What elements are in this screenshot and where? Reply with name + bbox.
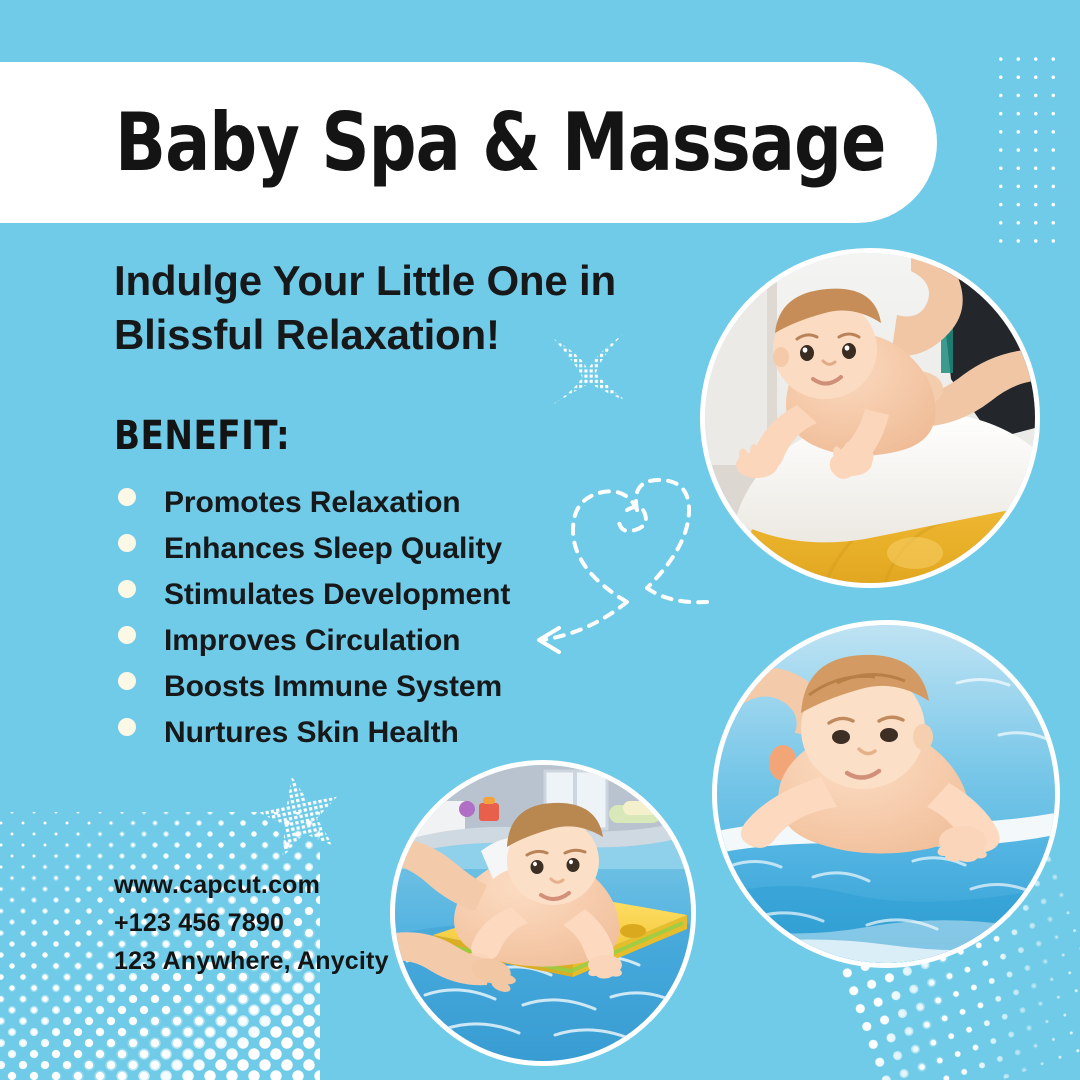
list-item-label: Stimulates Development — [164, 578, 510, 611]
poster-canvas: Baby Spa & Massage Indulge Your Little O… — [0, 0, 1080, 1080]
list-item-label: Boosts Immune System — [164, 670, 502, 703]
list-item: Stimulates Development — [114, 572, 674, 618]
contact-phone[interactable]: +123 456 7890 — [114, 904, 389, 942]
list-item-label: Improves Circulation — [164, 624, 460, 657]
contact-address: 123 Anywhere, Anycity — [114, 942, 389, 980]
bullet-icon — [118, 626, 136, 644]
list-item: Boosts Immune System — [114, 664, 674, 710]
baby-pool-illustration — [717, 625, 1055, 963]
photo-baby-massage-on-ball — [700, 248, 1040, 588]
bullet-icon — [118, 534, 136, 552]
contact-website[interactable]: www.capcut.com — [114, 866, 389, 904]
list-item-label: Enhances Sleep Quality — [164, 532, 502, 565]
baby-kickboard-illustration — [395, 765, 691, 1061]
title-banner: Baby Spa & Massage — [0, 62, 937, 223]
bullet-icon — [118, 580, 136, 598]
bullet-icon — [118, 488, 136, 506]
list-item-label: Nurtures Skin Health — [164, 716, 459, 749]
bullet-icon — [118, 672, 136, 690]
subheading: Indulge Your Little One in Blissful Rela… — [114, 254, 674, 362]
benefit-label: BENEFIT: — [114, 413, 290, 459]
photo-baby-in-pool — [712, 620, 1060, 968]
list-item: Enhances Sleep Quality — [114, 526, 674, 572]
contact-block: www.capcut.com +123 456 7890 123 Anywher… — [114, 866, 389, 980]
list-item: Improves Circulation — [114, 618, 674, 664]
dot-grid-icon — [992, 50, 1068, 250]
page-title: Baby Spa & Massage — [115, 103, 885, 183]
list-item: Nurtures Skin Health — [114, 710, 674, 756]
list-item-label: Promotes Relaxation — [164, 486, 461, 519]
baby-massage-illustration — [705, 253, 1035, 583]
benefit-list: Promotes Relaxation Enhances Sleep Quali… — [114, 480, 674, 756]
star-five-point-icon — [256, 772, 342, 858]
list-item: Promotes Relaxation — [114, 480, 674, 526]
photo-baby-on-kickboard — [390, 760, 696, 1066]
bullet-icon — [118, 718, 136, 736]
